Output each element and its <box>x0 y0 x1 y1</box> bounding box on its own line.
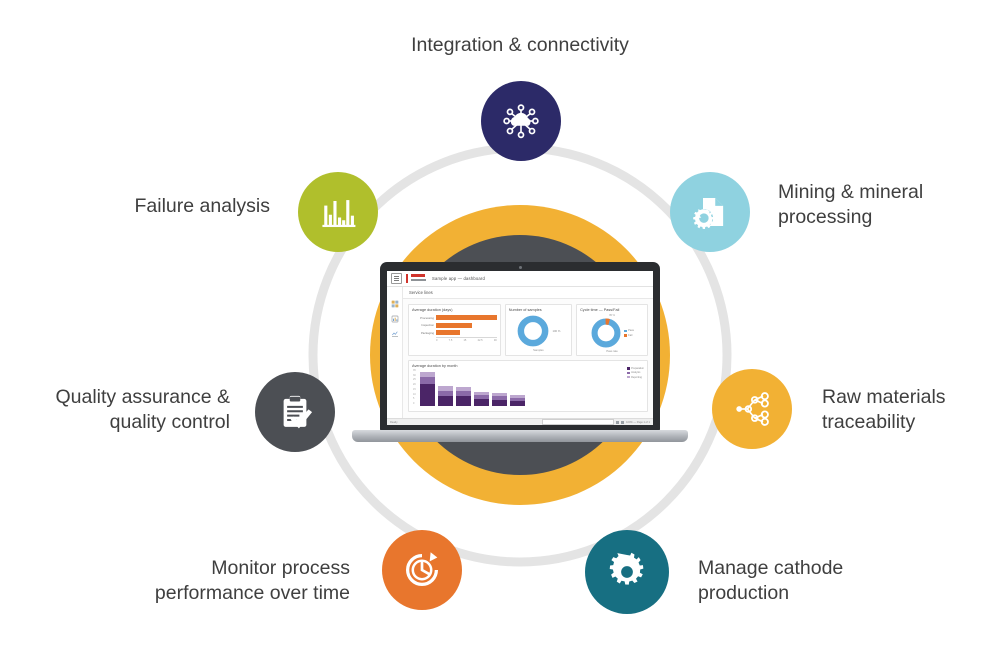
tick: 25 <box>413 378 416 381</box>
chart-card-avg-monthly: Average duration by month 0 5 10 15 20 2… <box>408 360 648 412</box>
card-title: Average duration (days) <box>412 308 497 312</box>
status-right-group: 100% — Page 1 of 1 <box>542 419 650 425</box>
node-tree-icon <box>730 387 774 431</box>
bar-row: Inspection <box>412 323 497 328</box>
app-body: Service lines Average duration (days) Pr… <box>387 287 653 425</box>
bar <box>436 323 472 328</box>
app-header: Sample app — dashboard <box>387 271 653 287</box>
analytics-icon[interactable] <box>391 330 399 338</box>
tick: 0 <box>413 402 416 405</box>
chart-card-cycle-time: Cycle time — Pass/Fail 95 % <box>576 304 648 356</box>
bar-row: Packaging <box>412 330 497 335</box>
infographic-canvas: Sample app — dashboard <box>0 0 1000 650</box>
tick: 10 <box>413 393 416 396</box>
cloud-network-icon <box>498 98 544 144</box>
card-title: Number of samples <box>509 308 568 312</box>
x-axis: 0 7.5 15 22.5 30 <box>436 337 497 342</box>
node-mining[interactable] <box>670 172 750 252</box>
stacked-bar <box>510 395 525 406</box>
sidebar-rail <box>387 287 403 425</box>
zoom-icon[interactable] <box>621 421 624 424</box>
donut-ring <box>516 314 550 348</box>
app-main: Service lines Average duration (days) Pr… <box>403 287 653 425</box>
node-raw-materials[interactable] <box>712 369 792 449</box>
status-zoom: 100% — Page 1 of 1 <box>626 421 650 424</box>
status-left: Ready <box>390 421 398 424</box>
bar <box>436 330 460 335</box>
stacked-bar-chart <box>412 370 644 406</box>
label-mining: Mining & mineral processing <box>778 180 978 230</box>
card-row: Average duration (days) Processing Inspe… <box>403 299 653 356</box>
chart-card-avg-order: Average duration (days) Processing Inspe… <box>408 304 501 356</box>
horizontal-bar-chart: Processing Inspection Packaging <box>412 314 497 335</box>
chart-card-number-samples: Number of samples 100 % Samples <box>505 304 572 356</box>
laptop-lid: Sample app — dashboard <box>380 262 660 432</box>
label-raw-materials: Raw materials traceability <box>822 385 1000 435</box>
status-input[interactable] <box>542 419 614 425</box>
bar-label: Packaging <box>412 331 434 335</box>
y-axis: 0 5 10 15 20 25 30 35 <box>413 369 416 405</box>
tick: 0 <box>436 339 437 342</box>
donut-ring <box>590 317 622 349</box>
stacked-bar <box>420 372 435 406</box>
stacked-bar <box>474 392 489 406</box>
node-integration[interactable] <box>481 81 561 161</box>
node-cathode[interactable] <box>585 530 669 614</box>
legend-item: Reporting <box>627 376 644 379</box>
node-quality[interactable] <box>255 372 335 452</box>
status-bar: Ready 100% — Page 1 of 1 <box>387 418 653 425</box>
reports-icon[interactable] <box>391 315 399 323</box>
donut-value: 100 % <box>552 329 560 333</box>
legend-item: Analysis <box>627 371 644 374</box>
stacked-bar <box>492 393 507 406</box>
legend-item: Pass <box>624 329 634 332</box>
tick: 20 <box>413 383 416 386</box>
node-failure[interactable] <box>298 172 378 252</box>
legend: Pass Fail <box>624 329 634 337</box>
laptop-base <box>352 430 688 442</box>
gear-icon <box>605 550 649 594</box>
donut-caption: Samples <box>509 349 568 352</box>
brand-logo <box>406 274 428 283</box>
tick: 7.5 <box>449 339 453 342</box>
breadcrumb: Service lines <box>403 287 653 299</box>
label-cathode: Manage cathode production <box>698 556 908 606</box>
donut-chart: 100 % <box>509 314 568 348</box>
donut-caption: Pass rate <box>580 350 644 353</box>
bar-row: Processing <box>412 315 497 320</box>
app-title: Sample app — dashboard <box>432 276 485 281</box>
label-monitor: Monitor process performance over time <box>60 556 350 606</box>
stacked-bar <box>438 386 453 406</box>
legend: Preparation Analysis Reporting <box>627 367 644 379</box>
label-quality: Quality assurance & quality control <box>20 385 230 435</box>
document-gear-icon <box>689 191 731 233</box>
card-title: Average duration by month <box>412 364 644 368</box>
node-monitor[interactable] <box>382 530 462 610</box>
bar-label: Inspection <box>412 323 434 327</box>
menu-icon[interactable] <box>391 273 402 284</box>
spectrum-bars-icon <box>316 190 360 234</box>
tick: 35 <box>413 369 416 372</box>
laptop-screen: Sample app — dashboard <box>387 271 653 425</box>
laptop-device: Sample app — dashboard <box>352 262 688 447</box>
tick: 15 <box>413 388 416 391</box>
tick: 30 <box>494 339 497 342</box>
webcam-icon <box>519 266 522 269</box>
clock-refresh-icon <box>399 547 445 593</box>
tick: 30 <box>413 374 416 377</box>
view-icon[interactable] <box>616 421 619 424</box>
bar-label: Processing <box>412 316 434 320</box>
stacked-bar <box>456 387 471 406</box>
tick: 22.5 <box>478 339 483 342</box>
clipboard-check-icon <box>274 391 316 433</box>
dashboard-icon[interactable] <box>391 300 399 308</box>
tick: 15 <box>463 339 466 342</box>
label-integration: Integration & connectivity <box>355 33 685 58</box>
card-title: Cycle time — Pass/Fail <box>580 308 644 312</box>
donut-chart: Pass Fail <box>580 317 644 349</box>
legend-item: Fail <box>624 334 634 337</box>
bar <box>436 315 497 320</box>
legend-item: Preparation <box>627 367 644 370</box>
tick: 5 <box>413 397 416 400</box>
label-failure: Failure analysis <box>45 194 270 219</box>
